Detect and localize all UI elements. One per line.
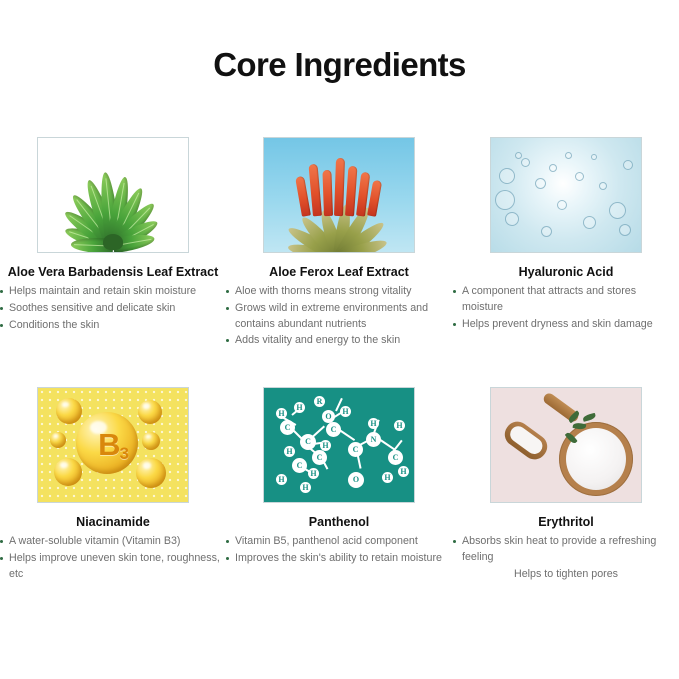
bullet-item: Helps to tighten pores	[453, 567, 679, 583]
atom-c: C	[300, 434, 316, 450]
ingredient-title: Niacinamide	[0, 515, 226, 530]
ingredient-title: Aloe Vera Barbadensis Leaf Extract	[0, 265, 226, 280]
ingredient-card-hyaluronic-acid: Hyaluronic Acid A component that attract…	[453, 132, 679, 333]
ingredient-card-niacinamide: B3 Niacinamide A water-soluble vitamin (…	[0, 382, 226, 583]
atom-h: H	[394, 420, 405, 431]
bullet-text: Aloe with thorns means strong vitality	[235, 285, 411, 297]
bullet-text: Conditions the skin	[9, 319, 99, 331]
ingredient-card-aloe-vera: Aloe Vera Barbadensis Leaf Extract Helps…	[0, 132, 226, 334]
bullet-item: Grows wild in extreme environments and c…	[226, 301, 452, 333]
ingredient-title: Hyaluronic Acid	[453, 265, 679, 280]
atom-h: H	[368, 418, 379, 429]
atom-h: H	[284, 446, 295, 457]
bullet-text: Helps to tighten pores	[514, 568, 618, 580]
bullet-dot-icon	[226, 557, 229, 560]
bullet-text: Adds vitality and energy to the skin	[235, 334, 400, 346]
leaf-sprig	[582, 413, 596, 422]
atom-h: H	[382, 472, 393, 483]
atom-h: H	[308, 468, 319, 479]
bullet-item: Adds vitality and energy to the skin	[226, 333, 452, 349]
bullet-dot-icon	[453, 323, 456, 326]
bullet-dot-icon	[226, 290, 229, 293]
bullet-text: Helps maintain and retain skin moisture	[9, 285, 196, 297]
atom-h: H	[276, 408, 287, 419]
ingredient-bullet-list: Helps maintain and retain skin moisture …	[0, 284, 226, 333]
ingredient-bullet-list: Vitamin B5, panthenol acid component Imp…	[226, 534, 452, 567]
bullet-dot-icon	[0, 307, 3, 310]
bullet-item: Vitamin B5, panthenol acid component	[226, 534, 452, 550]
bullet-item: Helps maintain and retain skin moisture	[0, 284, 226, 300]
atom-o: O	[348, 472, 364, 488]
ingredient-row-1: Aloe Vera Barbadensis Leaf Extract Helps…	[0, 132, 679, 382]
powder-in-scoop	[507, 423, 546, 457]
atom-c: C	[348, 442, 363, 457]
bullet-dot-icon	[0, 290, 3, 293]
bullet-text: A water-soluble vitamin (Vitamin B3)	[9, 535, 180, 547]
aloe-ferox-flower-photo	[263, 137, 415, 253]
bullet-dot-icon	[226, 540, 229, 543]
bullet-item: Aloe with thorns means strong vitality	[226, 284, 452, 300]
bullet-dot-icon	[453, 540, 456, 543]
bullet-text: Vitamin B5, panthenol acid component	[235, 535, 418, 547]
atom-c: C	[292, 458, 307, 473]
atom-n: N	[366, 432, 381, 447]
atom-c: C	[312, 450, 327, 465]
bullet-item: Conditions the skin	[0, 318, 226, 334]
ingredient-title: Aloe Ferox Leaf Extract	[226, 265, 452, 280]
ingredient-title: Erythritol	[453, 515, 679, 530]
ingredient-grid: Aloe Vera Barbadensis Leaf Extract Helps…	[0, 132, 679, 632]
bullet-text: Grows wild in extreme environments and c…	[235, 302, 428, 330]
ingredient-bullet-list: A component that attracts and stores moi…	[453, 284, 679, 332]
bullet-text: Absorbs skin heat to provide a refreshin…	[462, 535, 656, 563]
molecule-structure-graphic: H H C R O H C C H H C C H H H C O	[263, 387, 415, 503]
ingredient-bullet-list: A water-soluble vitamin (Vitamin B3) Hel…	[0, 534, 226, 582]
ingredient-card-erythritol: Erythritol Absorbs skin heat to provide …	[453, 382, 679, 583]
page-title: Core Ingredients	[0, 46, 679, 84]
atom-r: R	[314, 396, 325, 407]
atom-h: H	[398, 466, 409, 477]
vitamin-b3-droplet-graphic: B3	[37, 387, 189, 503]
atom-c: C	[388, 450, 403, 465]
bullet-dot-icon	[0, 324, 3, 327]
infographic-page: Core Ingredients	[0, 0, 679, 679]
bullet-item: A component that attracts and stores moi…	[453, 284, 679, 316]
bullet-text: Helps improve uneven skin tone, roughnes…	[9, 552, 220, 580]
bullet-item: Soothes sensitive and delicate skin	[0, 301, 226, 317]
ingredient-bullet-list: Absorbs skin heat to provide a refreshin…	[453, 534, 679, 582]
ingredient-row-2: B3 Niacinamide A water-soluble vitamin (…	[0, 382, 679, 632]
bullet-dot-icon	[0, 557, 3, 560]
atom-c: C	[280, 420, 295, 435]
bullet-item: A water-soluble vitamin (Vitamin B3)	[0, 534, 226, 550]
atom-h: H	[300, 482, 311, 493]
bullet-dot-icon	[0, 540, 3, 543]
bullet-text: Improves the skin's ability to retain mo…	[235, 552, 442, 564]
scoop-body	[500, 417, 552, 464]
bullet-dot-icon	[226, 339, 229, 342]
bullet-text: Soothes sensitive and delicate skin	[9, 302, 175, 314]
wooden-scoop-powder-photo	[490, 387, 642, 503]
bullet-dot-icon	[453, 290, 456, 293]
bullet-item: Helps improve uneven skin tone, roughnes…	[0, 551, 226, 583]
atom-h: H	[340, 406, 351, 417]
atom-c: C	[326, 422, 341, 437]
aloe-vera-plant-photo	[37, 137, 189, 253]
ingredient-title: Panthenol	[226, 515, 452, 530]
vitamin-label: B3	[98, 427, 128, 463]
bullet-text: A component that attracts and stores moi…	[462, 285, 636, 313]
bullet-item: Improves the skin's ability to retain mo…	[226, 551, 452, 567]
ingredient-card-panthenol: H H C R O H C C H H C C H H H C O	[226, 382, 452, 568]
atom-h: H	[294, 402, 305, 413]
bullet-item: Helps prevent dryness and skin damage	[453, 317, 679, 333]
atom-h: H	[276, 474, 287, 485]
bullet-dot-icon	[226, 307, 229, 310]
bullet-item: Absorbs skin heat to provide a refreshin…	[453, 534, 679, 566]
ingredient-bullet-list: Aloe with thorns means strong vitality G…	[226, 284, 452, 349]
bullet-text: Helps prevent dryness and skin damage	[462, 318, 653, 330]
water-bubbles-photo	[490, 137, 642, 253]
ingredient-card-aloe-ferox: Aloe Ferox Leaf Extract Aloe with thorns…	[226, 132, 452, 350]
